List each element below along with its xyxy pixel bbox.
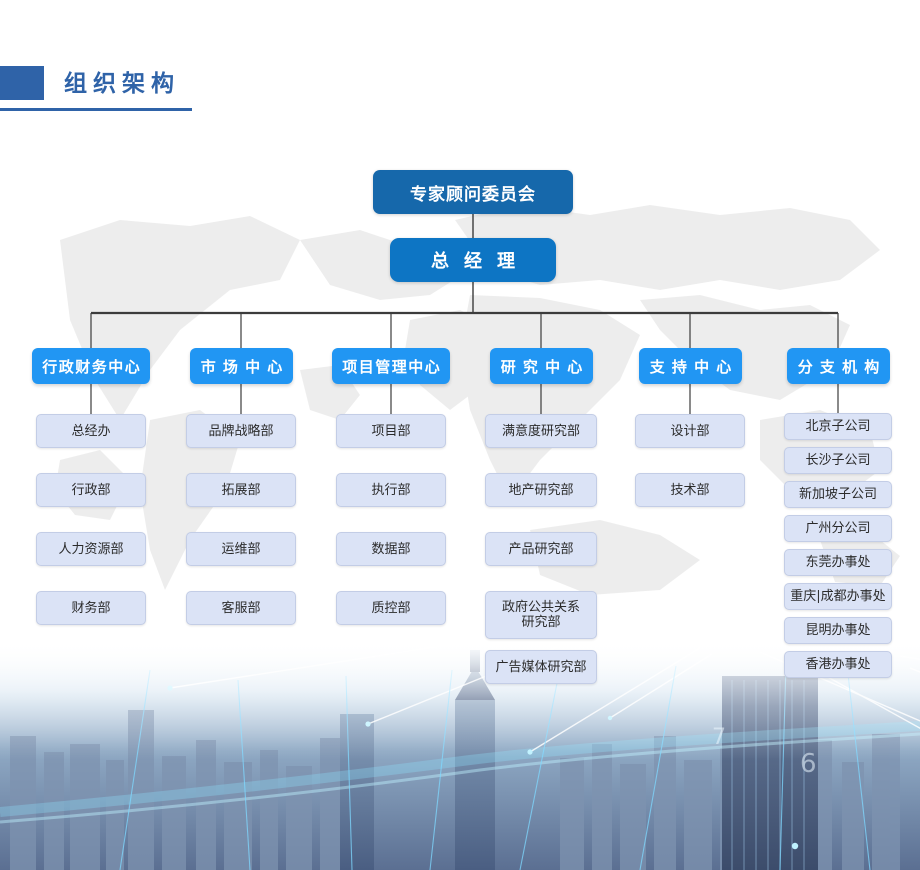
node-subdept-5-7[interactable]: 香港办事处 bbox=[784, 651, 892, 678]
node-department-header-1[interactable]: 市 场 中 心 bbox=[190, 348, 293, 384]
node-expert-advisory-committee[interactable]: 专家顾问委员会 bbox=[373, 170, 573, 214]
node-department-header-3[interactable]: 研 究 中 心 bbox=[490, 348, 593, 384]
page-title: 组织架构 bbox=[64, 66, 180, 100]
node-subdept-3-1[interactable]: 地产研究部 bbox=[485, 473, 597, 507]
node-subdept-5-0[interactable]: 北京子公司 bbox=[784, 413, 892, 440]
node-subdept-5-4[interactable]: 东莞办事处 bbox=[784, 549, 892, 576]
node-subdept-5-6[interactable]: 昆明办事处 bbox=[784, 617, 892, 644]
node-subdept-4-0[interactable]: 设计部 bbox=[635, 414, 745, 448]
node-subdept-0-2[interactable]: 人力资源部 bbox=[36, 532, 146, 566]
title-accent-square bbox=[0, 66, 44, 100]
node-subdept-1-0[interactable]: 品牌战略部 bbox=[186, 414, 296, 448]
node-subdept-3-2[interactable]: 产品研究部 bbox=[485, 532, 597, 566]
node-department-header-2[interactable]: 项目管理中心 bbox=[332, 348, 450, 384]
page-title-block: 组织架构 bbox=[0, 66, 200, 120]
node-subdept-2-0[interactable]: 项目部 bbox=[336, 414, 446, 448]
node-subdept-3-0[interactable]: 满意度研究部 bbox=[485, 414, 597, 448]
node-subdept-4-1[interactable]: 技术部 bbox=[635, 473, 745, 507]
node-subdept-5-1[interactable]: 长沙子公司 bbox=[784, 447, 892, 474]
node-subdept-1-1[interactable]: 拓展部 bbox=[186, 473, 296, 507]
node-subdept-1-3[interactable]: 客服部 bbox=[186, 591, 296, 625]
node-department-header-0[interactable]: 行政财务中心 bbox=[32, 348, 150, 384]
node-subdept-0-3[interactable]: 财务部 bbox=[36, 591, 146, 625]
node-subdept-3-3[interactable]: 政府公共关系 研究部 bbox=[485, 591, 597, 639]
node-subdept-0-1[interactable]: 行政部 bbox=[36, 473, 146, 507]
node-subdept-0-0[interactable]: 总经办 bbox=[36, 414, 146, 448]
node-general-manager[interactable]: 总 经 理 bbox=[390, 238, 556, 282]
node-subdept-1-2[interactable]: 运维部 bbox=[186, 532, 296, 566]
node-department-header-5[interactable]: 分 支 机 构 bbox=[787, 348, 890, 384]
node-subdept-5-5[interactable]: 重庆|成都办事处 bbox=[784, 583, 892, 610]
node-subdept-5-3[interactable]: 广州分公司 bbox=[784, 515, 892, 542]
title-underline bbox=[0, 108, 192, 111]
node-subdept-2-2[interactable]: 数据部 bbox=[336, 532, 446, 566]
node-department-header-4[interactable]: 支 持 中 心 bbox=[639, 348, 742, 384]
node-subdept-2-1[interactable]: 执行部 bbox=[336, 473, 446, 507]
node-subdept-3-4[interactable]: 广告媒体研究部 bbox=[485, 650, 597, 684]
node-subdept-5-2[interactable]: 新加坡子公司 bbox=[784, 481, 892, 508]
node-subdept-2-3[interactable]: 质控部 bbox=[336, 591, 446, 625]
